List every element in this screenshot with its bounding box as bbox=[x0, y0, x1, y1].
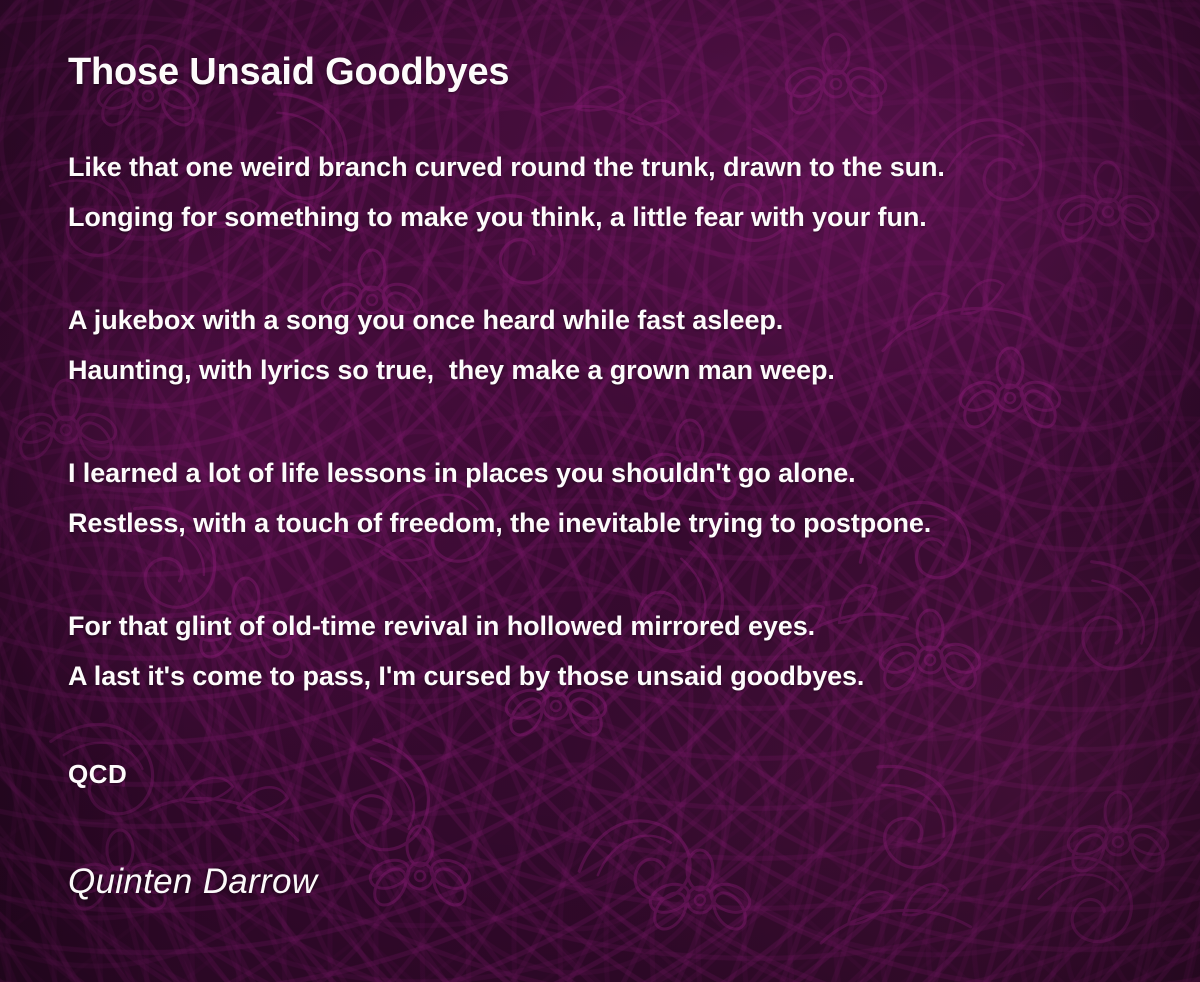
poem-line: For that glint of old-time revival in ho… bbox=[68, 601, 1160, 651]
poem-line: Like that one weird branch curved round … bbox=[68, 142, 1160, 192]
poem-title: Those Unsaid Goodbyes bbox=[68, 0, 1160, 94]
poem-stanza: For that glint of old-time revival in ho… bbox=[68, 601, 1160, 701]
poem-content: Those Unsaid Goodbyes Like that one weir… bbox=[68, 0, 1160, 902]
poem-line: A jukebox with a song you once heard whi… bbox=[68, 295, 1160, 345]
poem-body: Like that one weird branch curved round … bbox=[68, 142, 1160, 701]
poem-line: Haunting, with lyrics so true, they make… bbox=[68, 345, 1160, 395]
poem-stanza: I learned a lot of life lessons in place… bbox=[68, 448, 1160, 548]
poem-stanza: Like that one weird branch curved round … bbox=[68, 142, 1160, 242]
poem-card: Those Unsaid Goodbyes Like that one weir… bbox=[0, 0, 1200, 982]
poem-line: A last it's come to pass, I'm cursed by … bbox=[68, 651, 1160, 701]
poem-author-signature: Quinten Darrow bbox=[68, 794, 1160, 902]
poem-stanza: A jukebox with a song you once heard whi… bbox=[68, 295, 1160, 395]
poem-line: Longing for something to make you think,… bbox=[68, 192, 1160, 242]
poem-line: Restless, with a touch of freedom, the i… bbox=[68, 498, 1160, 548]
poem-line: I learned a lot of life lessons in place… bbox=[68, 448, 1160, 498]
poem-initials: QCD bbox=[68, 754, 1160, 794]
